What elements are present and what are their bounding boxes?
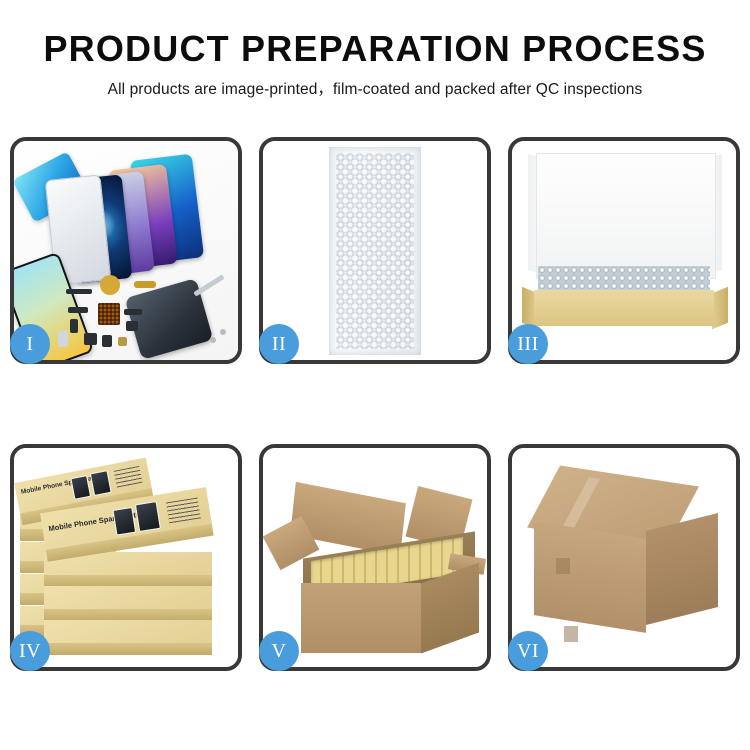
step-6-image: [512, 448, 736, 667]
page-subtitle: All products are image-printed，film-coat…: [0, 77, 750, 99]
step-1-image: [14, 141, 238, 360]
part-chip-icon: [84, 333, 97, 345]
part-strip-icon: [68, 307, 88, 313]
process-step-1: I: [10, 137, 242, 364]
process-step-5: V: [259, 444, 491, 671]
step-3-image: [512, 141, 736, 360]
screw-icon: [210, 337, 216, 343]
packed-box: [44, 620, 212, 644]
process-steps-grid: I II III: [10, 137, 740, 671]
part-chip-icon: [126, 321, 138, 331]
step-5-image: [263, 448, 487, 667]
carton-front-face-icon: [534, 521, 646, 633]
connector-grid-icon: [98, 303, 120, 325]
process-step-4: Mobile Phone Spare Parts Mobile Phone Sp…: [10, 444, 242, 671]
page-header: PRODUCT PREPARATION PROCESS All products…: [0, 0, 750, 99]
bubble-wrap-icon: [538, 266, 710, 292]
part-chip-icon: [102, 335, 112, 347]
part-strip-icon: [66, 289, 92, 294]
box-product-thumbnail: [135, 501, 161, 532]
step-2-image: [263, 141, 487, 360]
box-lid-icon: [536, 153, 716, 279]
part-strip-icon: [124, 309, 142, 315]
process-step-6: VI: [508, 444, 740, 671]
flex-cable-icon: [134, 281, 156, 288]
carton-front-face-icon: [301, 583, 421, 653]
box-right-face-icon: [712, 287, 728, 329]
step-badge: VI: [508, 631, 548, 671]
screw-icon: [220, 329, 226, 335]
screw-icon: [118, 337, 127, 346]
box-front-face-icon: [534, 290, 714, 326]
process-step-3: III: [508, 137, 740, 364]
step-badge: II: [259, 324, 299, 364]
box-product-thumbnail: [112, 507, 136, 536]
step-badge: V: [259, 631, 299, 671]
step-4-image: Mobile Phone Spare Parts Mobile Phone Sp…: [14, 448, 238, 667]
process-step-2: II: [259, 137, 491, 364]
packed-box: [44, 586, 212, 610]
step-badge: IV: [10, 631, 50, 671]
speaker-part-icon: [100, 275, 120, 295]
step-badge: III: [508, 324, 548, 364]
carton-right-face-icon: [646, 513, 718, 625]
part-chip-icon: [58, 331, 68, 347]
carton-marking-icon: [564, 626, 578, 642]
carton-marking-icon: [556, 558, 570, 574]
bubble-wrap-highlight-icon: [336, 153, 414, 349]
part-chip-icon: [70, 319, 78, 333]
step-badge: I: [10, 324, 50, 364]
page-title: PRODUCT PREPARATION PROCESS: [0, 30, 750, 68]
